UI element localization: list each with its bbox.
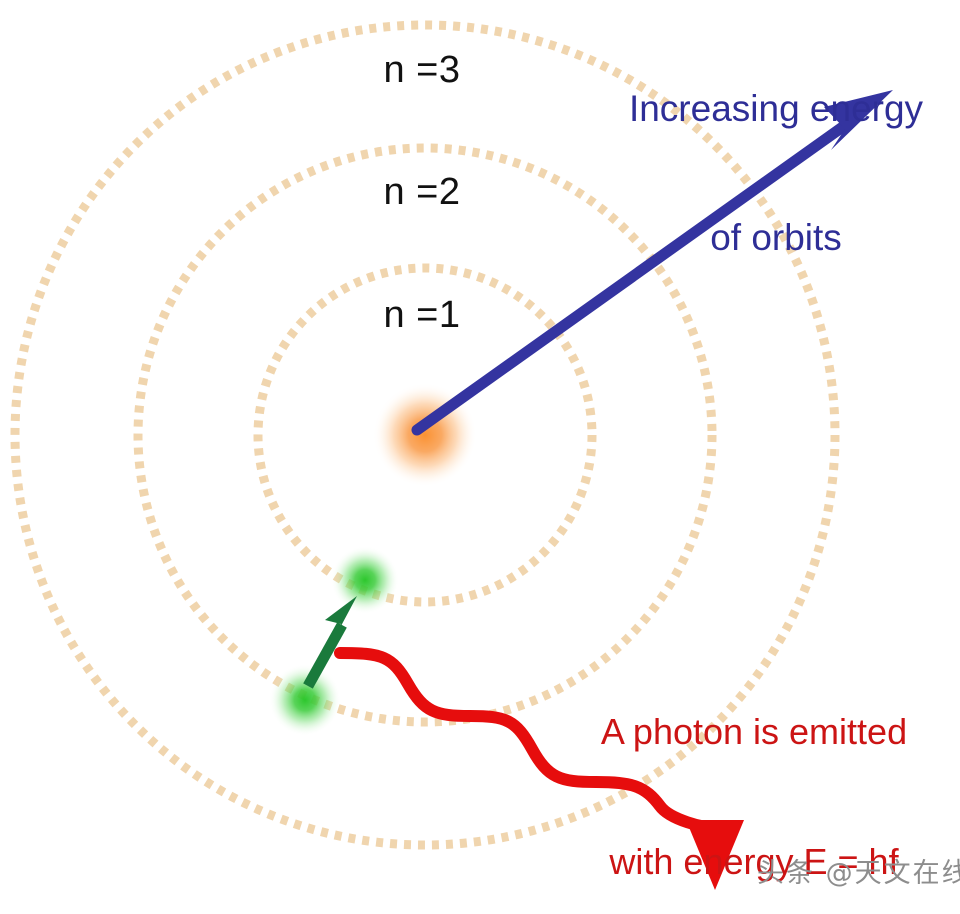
orbit-label-n2: n =2 (352, 171, 492, 214)
electron-ground (269, 664, 341, 736)
orbit-label-n1: n =1 (352, 294, 492, 337)
electron-excited (331, 546, 399, 614)
increasing-energy-caption: Increasing energy of orbits (600, 2, 952, 345)
orbit-label-n3: n =3 (352, 49, 492, 92)
electron-transition-arrow (308, 596, 357, 686)
increasing-energy-line1: Increasing energy (600, 88, 952, 131)
photon-caption-line1: A photon is emitted (574, 710, 934, 753)
diagram-canvas: n =3 n =2 n =1 Increasing energy of orbi… (0, 0, 960, 914)
increasing-energy-line2: of orbits (600, 217, 952, 260)
watermark: 头条 @天文在线 (757, 859, 960, 889)
